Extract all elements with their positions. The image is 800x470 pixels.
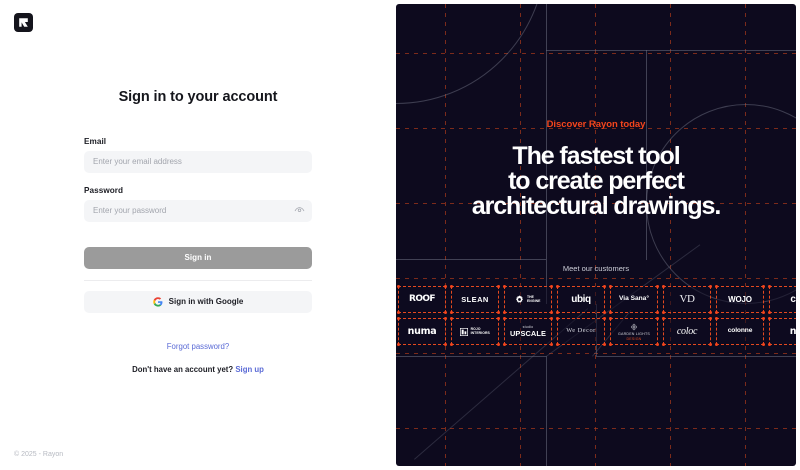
hero-headline: The fastest tool to create perfect archi… xyxy=(396,144,796,219)
form-divider xyxy=(84,280,312,281)
customer-logo-partial-1: c xyxy=(769,286,796,313)
email-input[interactable] xyxy=(84,151,312,173)
eye-icon[interactable] xyxy=(293,205,305,217)
headline-line-2: to create perfect xyxy=(396,169,796,194)
customer-logo-numa: numa xyxy=(398,318,446,345)
customer-logo-we-decor: We Decor xyxy=(557,318,605,345)
google-icon xyxy=(153,297,163,307)
password-field-wrapper[interactable] xyxy=(84,200,312,222)
customer-logo-row: ROOF SLEAN xyxy=(398,286,796,313)
customer-logo-partial-2: n xyxy=(769,318,796,345)
customer-logo-vd: VD xyxy=(663,286,711,313)
customer-logo-coloc: coloc xyxy=(663,318,711,345)
flower-icon xyxy=(630,323,638,331)
headline-line-3: architectural drawings. xyxy=(396,194,796,219)
footer-copyright: © 2025 - Rayon xyxy=(14,451,63,458)
email-field-wrapper[interactable] xyxy=(84,151,312,173)
hero-eyebrow: Discover Rayon today xyxy=(396,119,796,130)
customer-logo-garden-lights: GARDEN LIGHTS DESIGN xyxy=(610,318,658,345)
signin-form: Sign in to your account Email Password S… xyxy=(0,0,396,470)
customer-logo-the-engine: THE ENGINE xyxy=(504,286,552,313)
customer-logo-upscale: studio UPSCALE xyxy=(504,318,552,345)
page-title: Sign in to your account xyxy=(84,89,312,105)
sign-up-link[interactable]: Sign up xyxy=(235,365,264,374)
sign-in-button[interactable]: Sign in xyxy=(84,247,312,269)
customer-logo-colonne: colonne xyxy=(716,318,764,345)
customer-logo-roof: ROOF xyxy=(398,286,446,313)
customer-logo-slean: SLEAN xyxy=(451,286,499,313)
password-label: Password xyxy=(84,186,312,195)
customers-label: Meet our customers xyxy=(396,264,796,273)
password-input[interactable] xyxy=(84,200,312,222)
signup-prompt-text: Don't have an account yet? xyxy=(132,365,233,374)
forgot-password-link[interactable]: Forgot password? xyxy=(84,342,312,351)
email-label: Email xyxy=(84,137,312,146)
headline-line-1: The fastest tool xyxy=(396,144,796,169)
signup-prompt-row: Don't have an account yet? Sign up xyxy=(84,365,312,374)
rojo-mark-icon xyxy=(460,328,468,336)
auth-panel: Sign in to your account Email Password S… xyxy=(0,0,396,470)
customer-logo-wojo: WOJO xyxy=(716,286,764,313)
customer-logo-rojo-interiors: ROJO INTERIORS xyxy=(451,318,499,345)
google-button-label: Sign in with Google xyxy=(169,297,244,306)
hero-blueprint: Discover Rayon today The fastest tool to… xyxy=(396,4,796,466)
customer-logo-ubiq: ubiq xyxy=(557,286,605,313)
customer-logo-grid: ROOF SLEAN xyxy=(398,286,796,345)
sign-in-with-google-button[interactable]: Sign in with Google xyxy=(84,291,312,313)
customer-logo-row: numa xyxy=(398,318,796,345)
promo-panel: Discover Rayon today The fastest tool to… xyxy=(396,0,800,470)
customer-logo-via-sana: Via Sana° xyxy=(610,286,658,313)
gear-icon xyxy=(515,295,524,304)
